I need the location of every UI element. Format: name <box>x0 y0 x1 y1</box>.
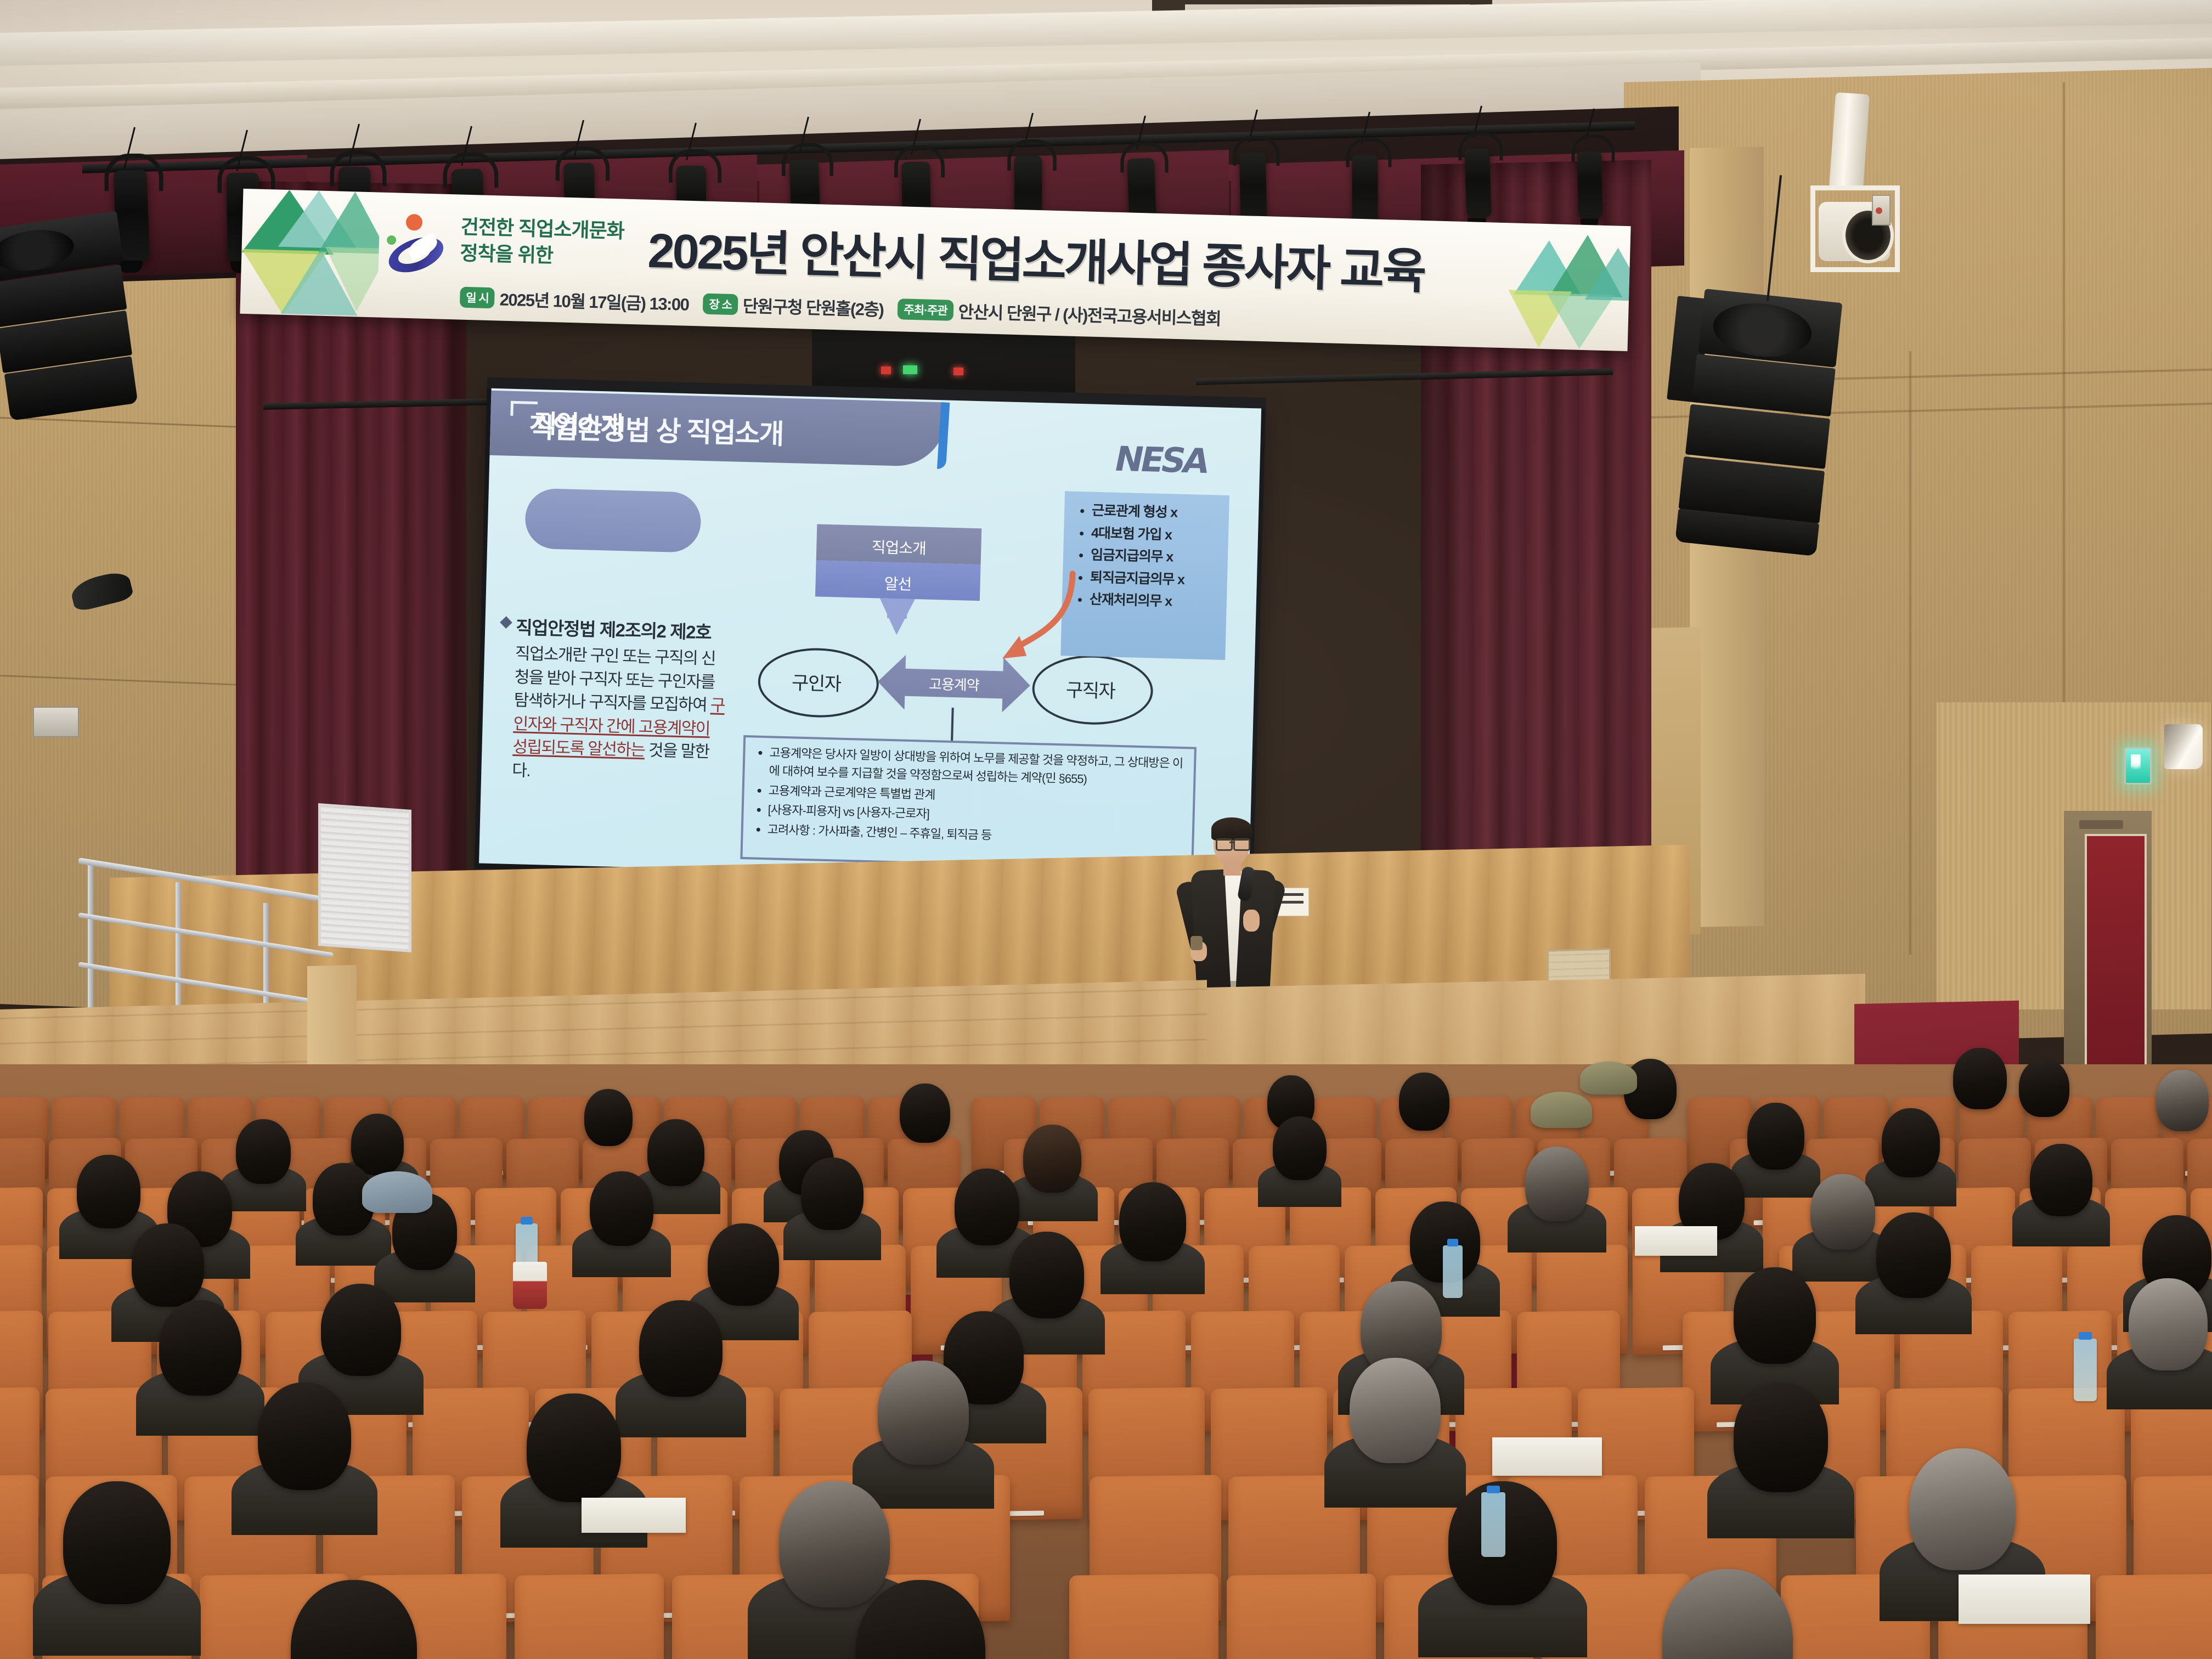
audience-head <box>1876 1212 1951 1298</box>
audience-cap <box>1580 1062 1637 1094</box>
handout-paper <box>582 1498 686 1533</box>
audience-head <box>1953 1048 2007 1109</box>
door-closer <box>2079 820 2123 829</box>
presenter-hair <box>1211 817 1252 840</box>
audience-head <box>708 1223 779 1306</box>
slide-body-part1: 직업소개란 구인 또는 구직의 신청을 받아 구직자 또는 구인자를 탐색하거나… <box>513 645 715 715</box>
audience-head <box>1525 1147 1589 1221</box>
wall-lamp <box>2164 724 2203 769</box>
audience-head <box>2019 1059 2069 1117</box>
party-right-label: 구직자 <box>1032 674 1149 704</box>
audience-head <box>132 1223 204 1307</box>
audience-head <box>1350 1358 1441 1463</box>
flow-box-mid-label: 알선 <box>815 570 980 596</box>
nesa-logo: NESA <box>1111 439 1211 481</box>
audience-cap <box>362 1171 432 1213</box>
banner-place-label: 장 소 <box>703 293 738 315</box>
handout-paper <box>1635 1226 1717 1256</box>
presentation-clicker <box>1190 936 1203 950</box>
projection-screen: 직업안정법 상 직업소개 NESA 직업소개 직업안정법 제2조의2 제2호 직… <box>475 386 1266 889</box>
callout-item: 4대보험 가입 x <box>1091 522 1229 548</box>
audience-head <box>236 1119 291 1184</box>
audience-head <box>779 1481 890 1607</box>
logo-dot-orange-icon <box>406 214 423 231</box>
banner-place-value: 단원구청 단원홀(2층) <box>742 297 884 320</box>
stage-par-light <box>1465 148 1492 218</box>
slide-right-callout-list: 근로관계 형성 x 4대보험 가입 x 임금지급의무 x 퇴직금지급의무 x 산… <box>1073 499 1229 614</box>
bottle-cap <box>1487 1486 1500 1493</box>
audience-head <box>1009 1232 1084 1318</box>
indicator-light-icon <box>1876 207 1882 214</box>
banner-triangle-pattern-left <box>240 189 380 318</box>
water-bottle <box>1443 1245 1463 1298</box>
auditorium-seat[interactable] <box>2096 1573 2212 1659</box>
stage-par-light <box>1577 151 1602 219</box>
audience-head <box>1023 1125 1081 1193</box>
audience-head <box>2129 1278 2208 1370</box>
stage-par-light <box>1352 155 1378 226</box>
audience-head <box>1119 1182 1186 1261</box>
audience-cap <box>1531 1092 1592 1128</box>
audience-head <box>647 1119 704 1186</box>
auditorium-seat[interactable] <box>1227 1573 1376 1659</box>
auditorium-seat[interactable] <box>515 1573 664 1659</box>
organization-logo <box>382 213 449 280</box>
audience-head <box>1909 1448 2016 1570</box>
audience-head <box>639 1300 723 1397</box>
slide-law-reference: 직업안정법 제2조의2 제2호 <box>516 613 712 644</box>
bottle-cap <box>1447 1239 1458 1246</box>
auditorium-photo: 건전한 직업소개문화 정착을 위한 2025년 안산시 직업소개사업 종사자 교… <box>0 0 2212 1659</box>
status-led-icon <box>903 365 917 374</box>
audience-head <box>159 1300 241 1396</box>
glasses-icon <box>1233 838 1250 851</box>
auditorium-seat[interactable] <box>1069 1573 1218 1659</box>
water-bottle <box>1481 1492 1505 1557</box>
presenter-hand-right <box>1243 910 1260 932</box>
audience-head <box>584 1089 633 1146</box>
slide-body-text: 직업소개란 구인 또는 구직의 신청을 받아 구직자 또는 구인자를 탐색하거나… <box>512 642 730 788</box>
bottle-cap <box>2079 1332 2092 1340</box>
slide-section-label: 직업소개 <box>490 403 667 443</box>
slide-section-pill <box>524 488 702 552</box>
stage-par-light <box>1239 152 1267 225</box>
wall-seam-vertical <box>1909 351 1911 955</box>
contract-arrow-label: 고용계약 <box>877 672 1030 696</box>
banner-date-label: 일 시 <box>460 286 495 308</box>
red-curved-arrow-icon <box>988 566 1079 667</box>
flow-box-top-label: 직업소개 <box>816 534 981 560</box>
glasses-icon <box>1216 838 1233 851</box>
party-left-label: 구인자 <box>758 667 874 697</box>
callout-item: 산재처리의무 x <box>1089 588 1227 614</box>
line-array-speaker-right <box>1677 289 1845 544</box>
audience-head <box>878 1361 969 1465</box>
callout-item: 근로관계 형성 x <box>1092 500 1229 526</box>
exit-door[interactable] <box>2085 834 2147 1074</box>
audience-head <box>1399 1073 1449 1131</box>
presentation-slide: 직업안정법 상 직업소개 NESA 직업소개 직업안정법 제2조의2 제2호 직… <box>479 388 1261 883</box>
banner-title: 2025년 안산시 직업소개사업 종사자 교육 <box>647 212 1425 302</box>
audience-head <box>801 1158 864 1230</box>
hvac-duct <box>1829 92 1870 190</box>
railing-post <box>88 861 93 1026</box>
presenter-jacket-left <box>1190 870 1231 997</box>
banner-subtitle-line2: 정착을 위한 <box>460 238 554 269</box>
audience-head <box>1734 1267 1816 1364</box>
audience-head <box>900 1084 950 1143</box>
audience-head <box>1810 1174 1875 1250</box>
slide-note-list: 고용계약은 당사자 일방이 상대방을 위하여 노무를 제공할 것을 약정하고, … <box>753 743 1188 851</box>
power-led-icon <box>953 368 963 375</box>
audience-head <box>77 1155 140 1228</box>
logo-dot-green-icon <box>387 235 396 245</box>
wall-seam-vertical-2 <box>2063 82 2065 730</box>
flow-arrow-down-icon <box>879 598 915 635</box>
running-man-icon <box>2131 754 2141 773</box>
water-bottle <box>2074 1339 2097 1401</box>
banner-triangle-pattern-right <box>1507 223 1631 351</box>
audience-head <box>1747 1103 1804 1170</box>
handout-paper <box>1959 1575 2090 1624</box>
bullet-diamond-icon <box>500 616 512 629</box>
audience-head <box>321 1284 401 1376</box>
audience-head <box>258 1383 351 1490</box>
audience-head <box>2030 1144 2092 1216</box>
audience-head <box>351 1114 404 1175</box>
bottle-cap <box>521 1217 533 1224</box>
audience-head <box>955 1169 1019 1245</box>
callout-item: 임금지급의무 x <box>1091 544 1228 569</box>
audience-head <box>1734 1383 1828 1492</box>
audience-head <box>1273 1116 1327 1180</box>
audience-head <box>590 1171 653 1246</box>
banner-host-value: 안산시 단원구 / (사)전국고용서비스협회 <box>958 302 1221 329</box>
auditorium-seat[interactable] <box>0 1573 34 1659</box>
handout-paper <box>1492 1437 1602 1476</box>
audience-head <box>1882 1108 1940 1177</box>
audience-head <box>63 1481 171 1604</box>
audience-head <box>527 1393 621 1502</box>
glasses-bridge-icon <box>1229 842 1234 843</box>
stage-side-screen-panel <box>318 803 411 952</box>
banner-date-value: 2025년 10월 17일(금) 13:00 <box>499 290 689 314</box>
callout-item: 퇴직금지급의무 x <box>1090 566 1227 592</box>
banner-host-label: 주최·주관 <box>898 298 953 321</box>
audience-head <box>2156 1070 2209 1131</box>
power-led-icon <box>881 366 891 374</box>
drink-cup <box>513 1262 547 1309</box>
contract-connector-line <box>951 708 954 742</box>
wall-control-plate <box>33 707 79 737</box>
